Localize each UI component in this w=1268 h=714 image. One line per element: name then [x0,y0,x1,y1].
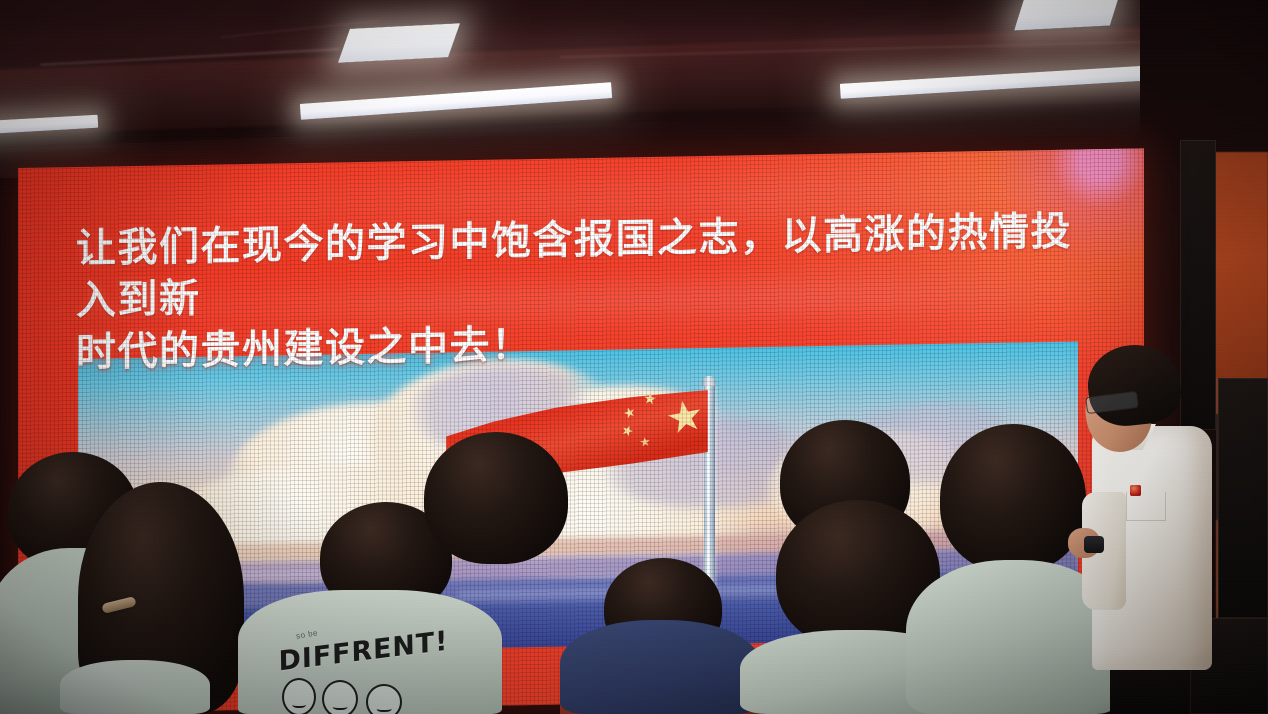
wristwatch-icon [1084,536,1104,553]
audience-shirt [60,660,210,714]
tshirt-face-icon [282,678,316,714]
slide-headline: 让我们在现今的学习中饱含报国之志，以高涨的热情投入到新 时代的贵州建设之中去！ [76,205,1106,379]
audience-head [940,424,1086,572]
slide-headline-line-1: 让我们在现今的学习中饱含报国之志，以高涨的热情投入到新 [76,205,1106,327]
party-badge-icon [1130,485,1141,496]
speaker-cabinet-lower [1218,378,1268,618]
speaker-cabinet-upper [1180,140,1216,430]
panel-light-upper-center-icon [338,23,460,63]
accent-wall-panel [1208,152,1268,414]
speaker-edge [1216,378,1218,618]
audience-shirt-navy [560,620,760,714]
presenter-shirt-pocket [1126,492,1166,521]
tshirt-face-icon [322,680,358,714]
photograph-scene: 让我们在现今的学习中饱含报国之志，以高涨的热情投入到新 时代的贵州建设之中去！ [0,0,1268,714]
panel-light-upper-right-icon [1014,0,1120,30]
